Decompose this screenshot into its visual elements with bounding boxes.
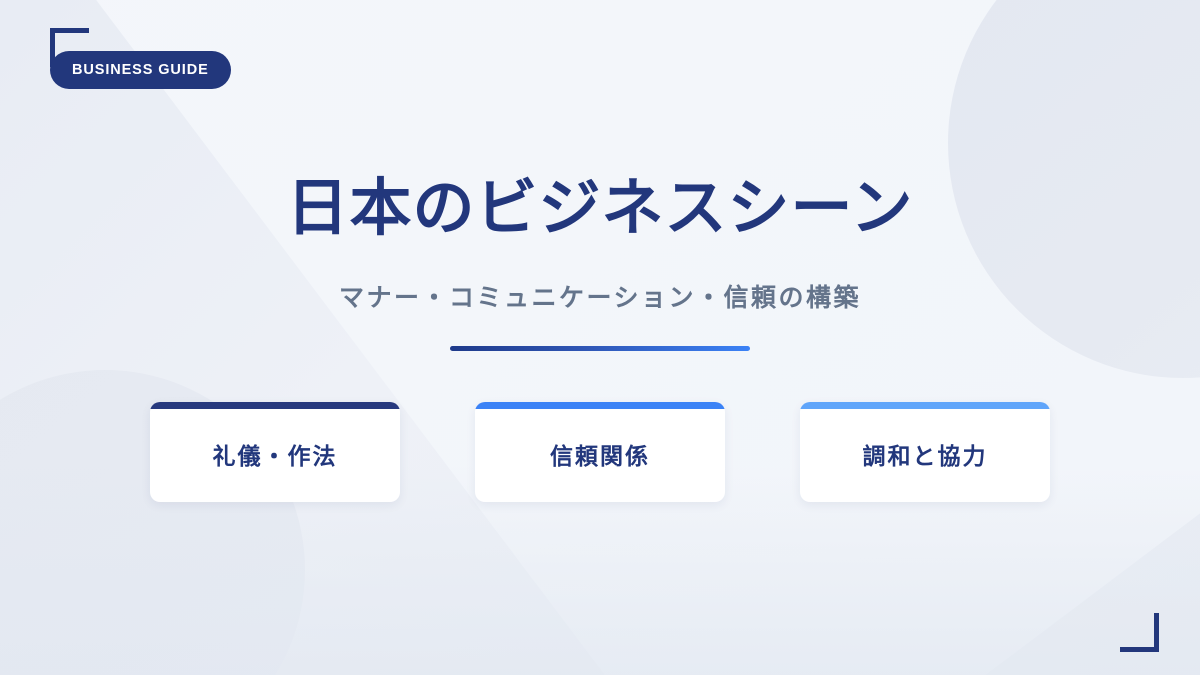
card-item[interactable]: 調和と協力 bbox=[800, 402, 1050, 502]
card-top-bar bbox=[800, 402, 1050, 409]
slide-canvas: BUSINESS GUIDE 日本のビジネスシーン マナー・コミュニケーション・… bbox=[0, 0, 1200, 675]
card-top-bar bbox=[475, 402, 725, 409]
card-item[interactable]: 礼儀・作法 bbox=[150, 402, 400, 502]
card-label: 信頼関係 bbox=[550, 437, 650, 471]
title-divider bbox=[450, 346, 750, 351]
card-row: 礼儀・作法 信頼関係 調和と協力 bbox=[150, 402, 1050, 502]
card-label: 礼儀・作法 bbox=[213, 437, 338, 471]
hero-content: 日本のビジネスシーン マナー・コミュニケーション・信頼の構築 礼儀・作法 信頼関… bbox=[0, 0, 1200, 675]
card-top-bar bbox=[150, 402, 400, 409]
card-item[interactable]: 信頼関係 bbox=[475, 402, 725, 502]
page-title: 日本のビジネスシーン bbox=[287, 173, 914, 244]
page-subtitle: マナー・コミュニケーション・信頼の構築 bbox=[339, 278, 861, 314]
card-label: 調和と協力 bbox=[863, 437, 988, 471]
